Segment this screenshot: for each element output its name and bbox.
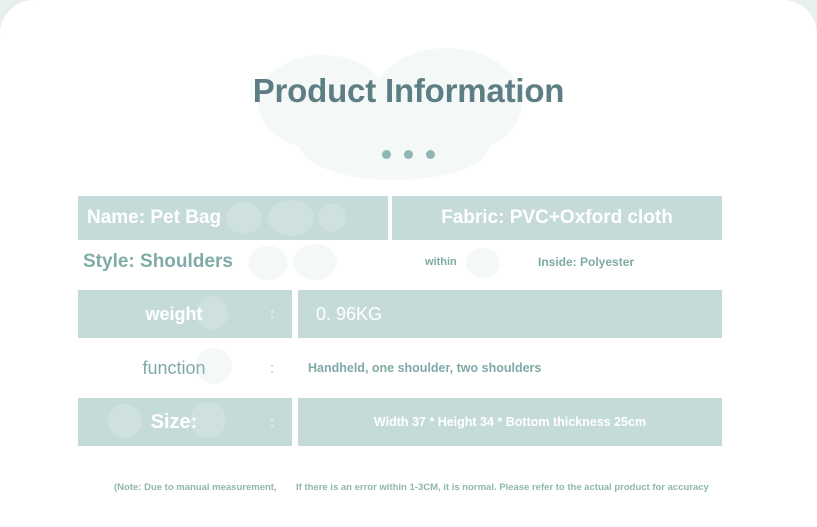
size-colon: :: [270, 398, 292, 446]
cell-fabric: Fabric: PVC+Oxford cloth: [392, 196, 722, 240]
inside-material-text: Inside: Polyester: [538, 255, 634, 269]
style-text: Style: Shoulders: [83, 251, 233, 273]
separator-dot-1: [382, 150, 391, 159]
watermark-blob: [318, 204, 346, 232]
table-row: function : Handheld, one shoulder, two s…: [78, 344, 722, 392]
function-colon: :: [270, 344, 292, 392]
cell-function-label: function: [78, 344, 270, 392]
measurement-note-part2: If there is an error within 1-3CM, it is…: [296, 482, 709, 493]
watermark-blob: [108, 404, 142, 438]
watermark-blob: [268, 200, 314, 236]
watermark-blob: [300, 110, 490, 180]
size-label: Size:: [151, 411, 198, 434]
table-row: Style: Shoulders within Inside: Polyeste…: [78, 240, 722, 284]
cell-weight-label: weight: [78, 290, 270, 338]
product-name-text: Name: Pet Bag: [87, 207, 221, 229]
page-header: Product Information: [0, 0, 817, 186]
cell-product-name: Name: Pet Bag: [78, 196, 388, 240]
cell-size-label: Size:: [78, 398, 270, 446]
measurement-note: (Note: Due to manual measurement, If the…: [78, 482, 738, 498]
weight-colon: :: [270, 290, 292, 338]
product-information-page: Product Information Name: Pet Bag Fabric…: [0, 0, 817, 527]
weight-value: 0. 96KG: [298, 290, 722, 338]
page-title: Product Information: [0, 72, 817, 110]
table-row: weight : 0. 96KG: [78, 290, 722, 338]
size-value: Width 37 * Height 34 * Bottom thickness …: [298, 398, 722, 446]
weight-label: weight: [146, 304, 203, 325]
table-row: Name: Pet Bag Fabric: PVC+Oxford cloth: [78, 196, 722, 240]
table-row: Size: : Width 37 * Height 34 * Bottom th…: [78, 398, 722, 446]
function-label: function: [142, 358, 205, 379]
separator-dot-3: [426, 150, 435, 159]
separator-dot-2: [404, 150, 413, 159]
measurement-note-part1: (Note: Due to manual measurement,: [114, 482, 277, 493]
specification-table: Name: Pet Bag Fabric: PVC+Oxford cloth S…: [78, 196, 722, 446]
fabric-text: Fabric: PVC+Oxford cloth: [441, 207, 673, 229]
watermark-blob: [466, 248, 500, 278]
dot-separator: [0, 150, 817, 159]
within-text: within: [425, 256, 457, 268]
function-value: Handheld, one shoulder, two shoulders: [298, 344, 722, 392]
watermark-blob: [226, 202, 262, 234]
watermark-blob: [293, 244, 337, 280]
watermark-blob: [248, 246, 288, 280]
